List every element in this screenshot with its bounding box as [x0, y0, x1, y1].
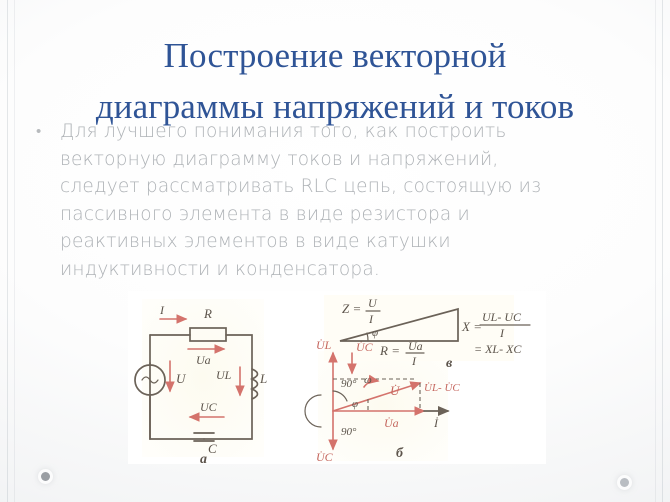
vector-u-label: U̇	[390, 383, 401, 398]
angle-90-top: 90°	[341, 378, 357, 390]
uc-label: UC	[200, 400, 218, 414]
caption-c: в	[446, 356, 453, 371]
r-label: R =	[379, 343, 400, 358]
inductor-label: L	[259, 371, 267, 386]
vector-ua-label: U̇а	[384, 416, 399, 430]
angle-phi: φ	[352, 398, 358, 410]
body-line-3: следует рассматривать RLC цепь, состоящу…	[60, 173, 630, 201]
capacitor-label: C	[208, 441, 217, 456]
vector-uc-label: U̇C	[316, 450, 334, 464]
triangle-phi-label: φ	[372, 327, 378, 339]
ua-label: Uа	[196, 353, 211, 367]
x-label: X =	[461, 319, 482, 334]
x-equals-label: = XL- XC	[474, 342, 522, 356]
decorative-dot-right	[620, 478, 629, 487]
vector-reactive-label: U̇L- U̇C	[424, 382, 460, 394]
omega-label: ω	[364, 374, 372, 386]
angle-90-bottom: 90°	[341, 426, 357, 438]
figure-image: .ink{stroke:#6b6258;fill:none;stroke-wid…	[128, 291, 546, 464]
presentation-slide: Построение векторной диаграммы напряжени…	[0, 0, 670, 502]
bullet-marker: •	[30, 118, 60, 145]
bullet-list-item: • Для лучшего понимания того, как постро…	[30, 118, 630, 283]
caption-b: б	[396, 446, 404, 461]
body-line-1: Для лучшего понимания того, как построит…	[60, 118, 630, 146]
vector-ul-label: U̇L	[316, 338, 332, 352]
resistor-label: R	[203, 306, 212, 321]
ul-label: UL	[216, 368, 232, 382]
slide-body: • Для лучшего понимания того, как постро…	[30, 118, 630, 283]
body-line-4: пассивного элемента в виде резистора и	[60, 201, 630, 229]
figure-svg: .ink{stroke:#6b6258;fill:none;stroke-wid…	[128, 291, 546, 464]
r-numerator: Uа	[408, 339, 423, 353]
vector-uc-small-label: U̇C	[356, 340, 374, 354]
x-numerator: UL- UC	[482, 310, 522, 324]
decorative-dot-left	[41, 472, 50, 481]
body-line-5: реактивных элементов в виде катушки	[60, 228, 630, 256]
slide-title-line-1: Построение векторной	[0, 31, 670, 82]
bullet-paragraph: Для лучшего понимания того, как построит…	[60, 118, 630, 283]
body-line-6: индуктивности и конденсатора.	[60, 256, 630, 284]
caption-a: а	[200, 452, 207, 464]
z-numerator: U	[368, 296, 378, 310]
u-label: U	[176, 371, 187, 386]
body-line-2: векторную диаграмму токов и напряжений,	[60, 146, 630, 174]
z-label: Z =	[342, 301, 361, 316]
